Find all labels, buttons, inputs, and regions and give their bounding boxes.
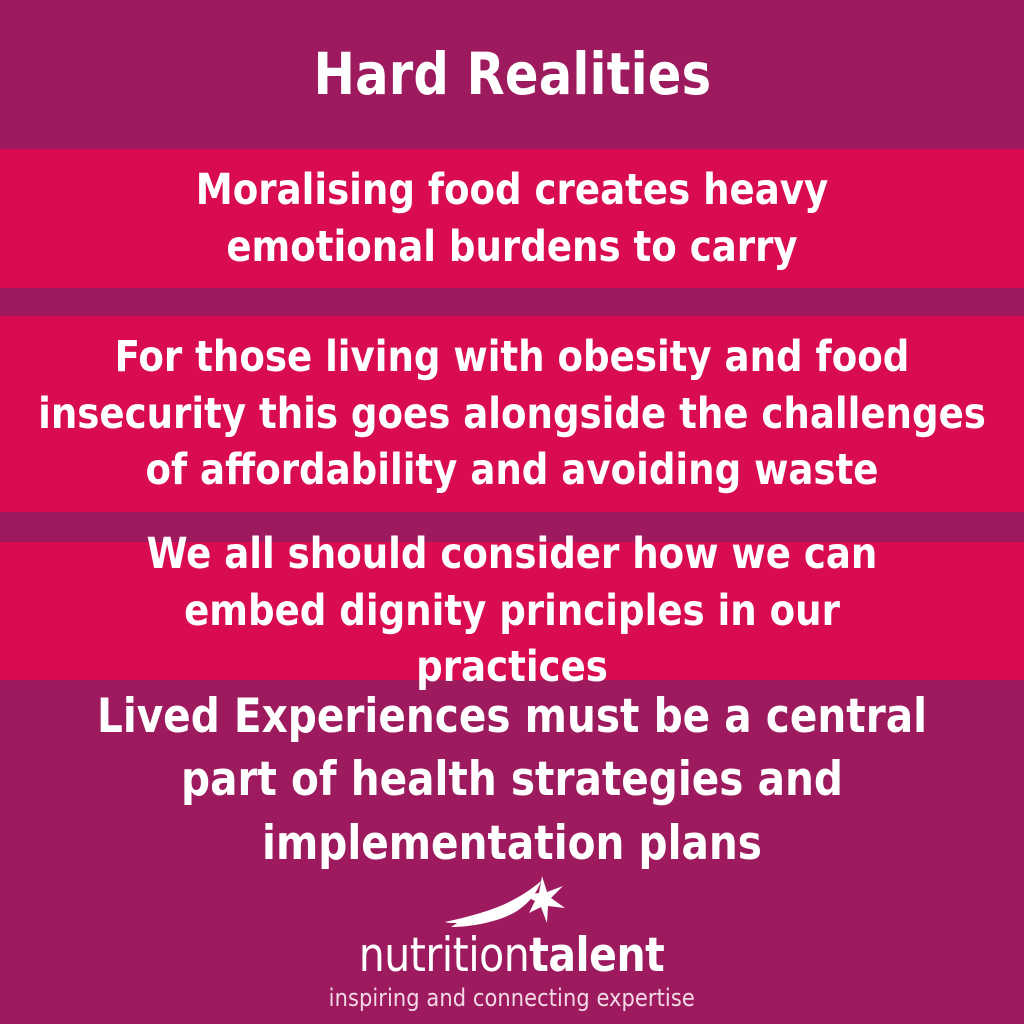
logo-wordmark-bold: talent [530, 928, 665, 983]
statement-block-4: Lived Experiences must be a central part… [0, 700, 1024, 860]
shooting-star-icon [441, 876, 583, 930]
logo-wordmark-light: nutrition [359, 928, 530, 983]
logo-tagline: inspiring and connecting expertise [329, 986, 695, 1010]
brand-logo: nutritiontalent inspiring and connecting… [0, 876, 1024, 1024]
statement-text-2: For those living with obesity and food i… [32, 329, 992, 499]
page-title: Hard Realities [313, 44, 711, 105]
statement-text-1: Moralising food creates heavy emotional … [123, 162, 901, 276]
statement-band-1: Moralising food creates heavy emotional … [0, 149, 1024, 288]
poster-canvas: Hard Realities Moralising food creates h… [0, 0, 1024, 1024]
statement-text-4: Lived Experiences must be a central part… [51, 685, 973, 875]
statement-band-2: For those living with obesity and food i… [0, 316, 1024, 512]
title-section: Hard Realities [0, 0, 1024, 149]
logo-wordmark: nutritiontalent [359, 932, 665, 979]
statement-text-3: We all should consider how we can embed … [109, 526, 915, 696]
statement-band-3: We all should consider how we can embed … [0, 542, 1024, 680]
